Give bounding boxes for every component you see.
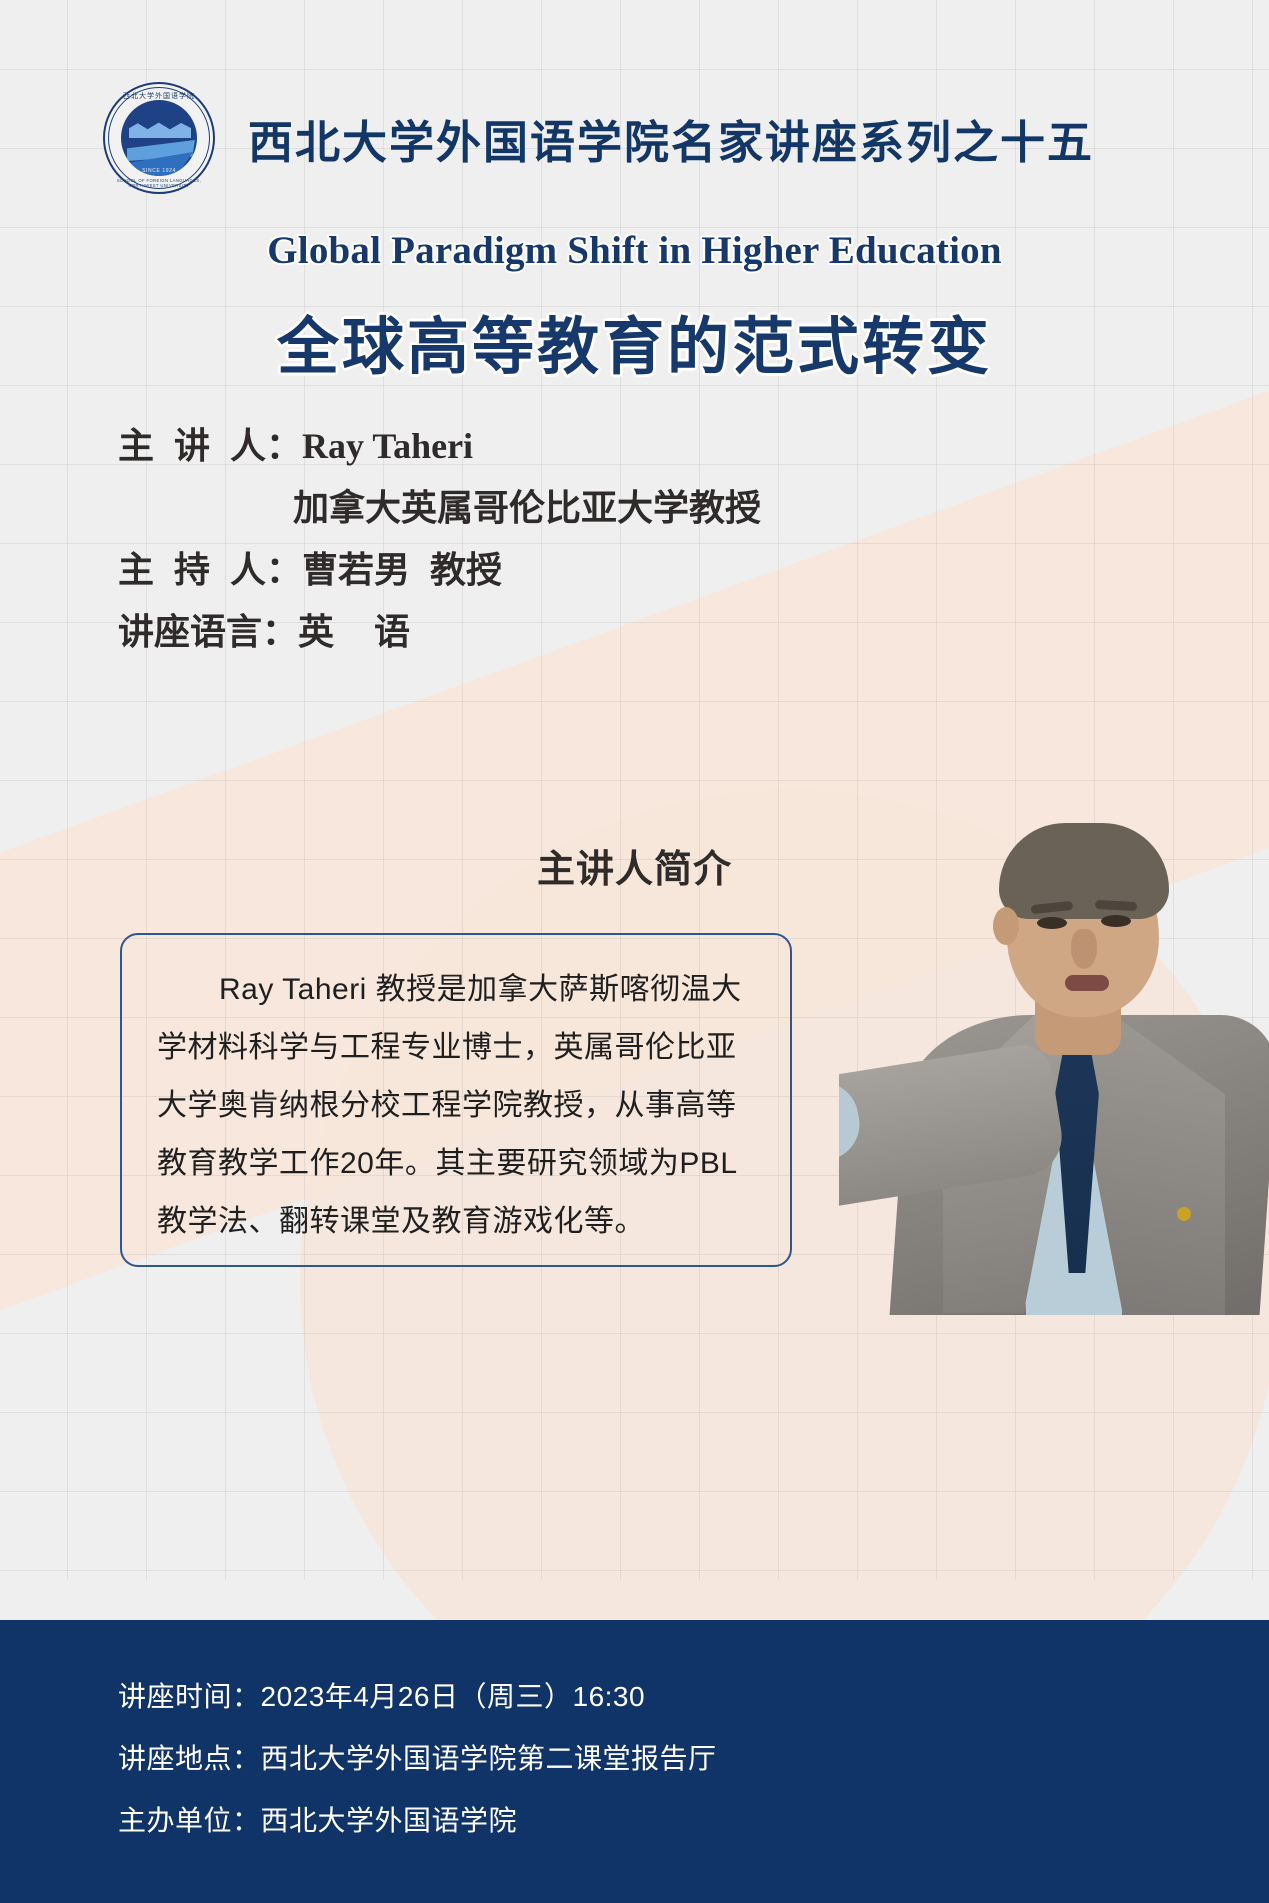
- speaker-affiliation: 加拿大英属哥伦比亚大学教授: [293, 487, 761, 528]
- logo-mountain-icon: [129, 122, 191, 138]
- logo-since-text: SINCE 1924: [103, 168, 215, 174]
- bio-text: Ray Taheri 教授是加拿大萨斯喀彻温大学材料科学与工程专业博士，英属哥伦…: [157, 961, 760, 1251]
- photo-lapel-pin: [1177, 1207, 1191, 1221]
- speaker-label: 主 讲 人：: [118, 425, 302, 466]
- university-logo-icon: 西北大学外国语学院 SINCE 1924 SCHOOL OF FOREIGN L…: [103, 82, 215, 194]
- speaker-name: Ray Taheri: [302, 426, 473, 466]
- photo-left-eye: [1037, 917, 1067, 929]
- host-label: 主 持 人：: [118, 549, 302, 590]
- footer-place: 讲座地点：西北大学外国语学院第二课堂报告厅: [118, 1728, 717, 1790]
- speaker-row: 主 讲 人：Ray Taheri: [118, 415, 1018, 477]
- logo-english-ring-text: SCHOOL OF FOREIGN LANGUAGES, NORTHWEST U…: [103, 178, 215, 188]
- footer-time: 讲座时间：2023年4月26日（周三）16:30: [118, 1666, 717, 1728]
- series-title: 西北大学外国语学院名家讲座系列之十五: [248, 106, 1094, 171]
- photo-mouth: [1065, 975, 1109, 991]
- language-row: 讲座语言：英 语: [118, 601, 1018, 663]
- photo-right-eye: [1101, 915, 1131, 927]
- host-name: 曹若男 教授: [302, 549, 502, 590]
- photo-nose: [1071, 929, 1097, 969]
- poster-footer: 讲座时间：2023年4月26日（周三）16:30 讲座地点：西北大学外国语学院第…: [0, 1620, 1269, 1903]
- footer-details: 讲座时间：2023年4月26日（周三）16:30 讲座地点：西北大学外国语学院第…: [118, 1666, 717, 1852]
- speaker-affiliation-row: 加拿大英属哥伦比亚大学教授: [118, 477, 1018, 539]
- lecture-info-block: 主 讲 人：Ray Taheri 加拿大英属哥伦比亚大学教授 主 持 人：曹若男…: [118, 415, 1018, 663]
- photo-hair: [999, 823, 1169, 919]
- photo-ear: [993, 907, 1019, 945]
- lecture-title-chinese: 全球高等教育的范式转变: [0, 296, 1269, 386]
- language-label: 讲座语言：: [118, 611, 298, 652]
- language-value: 英 语: [298, 611, 410, 652]
- speaker-photo: [839, 815, 1269, 1315]
- poster-header: 西北大学外国语学院 SINCE 1924 SCHOOL OF FOREIGN L…: [0, 78, 1269, 198]
- lecture-poster: 西北大学外国语学院 SINCE 1924 SCHOOL OF FOREIGN L…: [0, 0, 1269, 1903]
- footer-organizer: 主办单位：西北大学外国语学院: [118, 1790, 717, 1852]
- host-row: 主 持 人：曹若男 教授: [118, 539, 1018, 601]
- bio-box: Ray Taheri 教授是加拿大萨斯喀彻温大学材料科学与工程专业博士，英属哥伦…: [120, 933, 792, 1267]
- lecture-title-english: Global Paradigm Shift in Higher Educatio…: [0, 228, 1269, 273]
- logo-disc: [121, 100, 197, 176]
